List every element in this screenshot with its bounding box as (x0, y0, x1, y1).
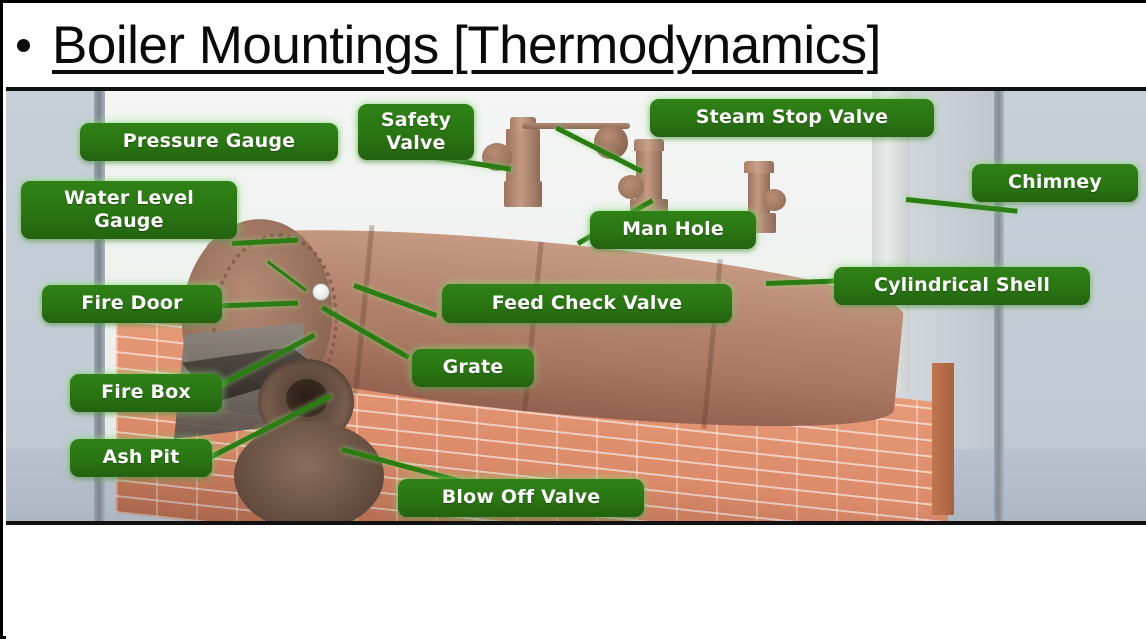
slide-body-empty-area (6, 525, 1146, 639)
scene-right-post (994, 91, 1004, 521)
slide-title-row: Boiler Mountings [Thermodynamics] (3, 3, 1146, 87)
slide: Boiler Mountings [Thermodynamics] (0, 0, 1146, 639)
label-ash-pit[interactable]: Ash Pit (70, 439, 212, 477)
bullet-icon (17, 39, 30, 52)
page-title: Boiler Mountings [Thermodynamics] (52, 19, 881, 72)
shell-seam-1 (353, 225, 375, 395)
safety-valve-flange (504, 181, 542, 207)
label-fire-box[interactable]: Fire Box (70, 374, 222, 412)
label-grate[interactable]: Grate (412, 349, 534, 387)
label-steam-stop-valve[interactable]: Steam Stop Valve (650, 99, 934, 137)
label-feed-check-valve[interactable]: Feed Check Valve (442, 284, 732, 323)
boiler-diagram-figure: Pressure Gauge Safety Valve Steam Stop V… (6, 87, 1146, 525)
label-water-level-gauge[interactable]: Water Level Gauge (21, 181, 237, 239)
man-hole-handwheel (762, 189, 786, 211)
label-man-hole[interactable]: Man Hole (590, 211, 756, 249)
steam-stop-valve-handwheel (618, 175, 644, 199)
brick-base-right-face (932, 363, 954, 515)
man-hole-cover (744, 161, 774, 173)
label-fire-door[interactable]: Fire Door (42, 285, 222, 323)
steam-stop-valve-cap (634, 139, 664, 151)
label-blow-off-valve[interactable]: Blow Off Valve (398, 479, 644, 517)
pressure-gauge-dial (312, 283, 330, 301)
label-chimney[interactable]: Chimney (972, 164, 1138, 202)
label-pressure-gauge[interactable]: Pressure Gauge (80, 123, 338, 161)
label-safety-valve[interactable]: Safety Valve (358, 104, 474, 160)
diagram-canvas: Pressure Gauge Safety Valve Steam Stop V… (6, 91, 1146, 521)
label-cylindrical-shell[interactable]: Cylindrical Shell (834, 267, 1090, 305)
